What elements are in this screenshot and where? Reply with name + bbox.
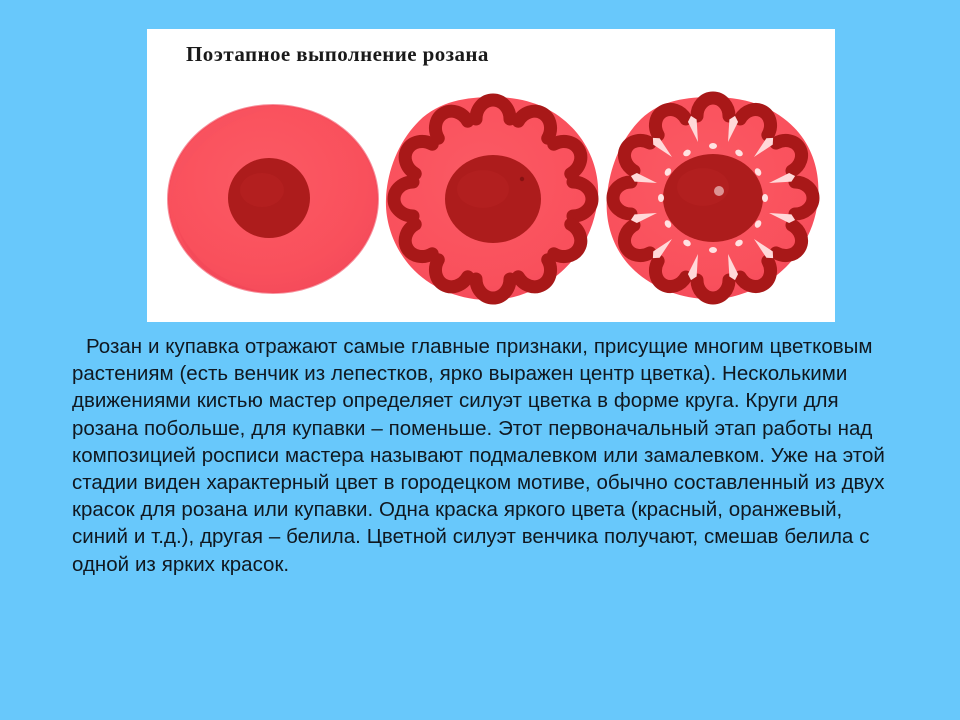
flower-blob-1 [168, 105, 378, 293]
figure-panel: Поэтапное выполнение розана [147, 29, 835, 322]
slide-canvas: Поэтапное выполнение розана [0, 0, 960, 720]
flower-illustration-row [147, 91, 835, 319]
body-paragraph: Розан и купавка отражают самые главные п… [72, 333, 902, 578]
figure-title: Поэтапное выполнение розана [186, 42, 489, 67]
flower-blob-3 [607, 97, 819, 299]
flower-blob-2 [386, 97, 598, 300]
flower-stage-3-image [599, 91, 827, 306]
flower-stage-1-image [157, 91, 385, 306]
flower-stage-2-image [379, 91, 607, 306]
